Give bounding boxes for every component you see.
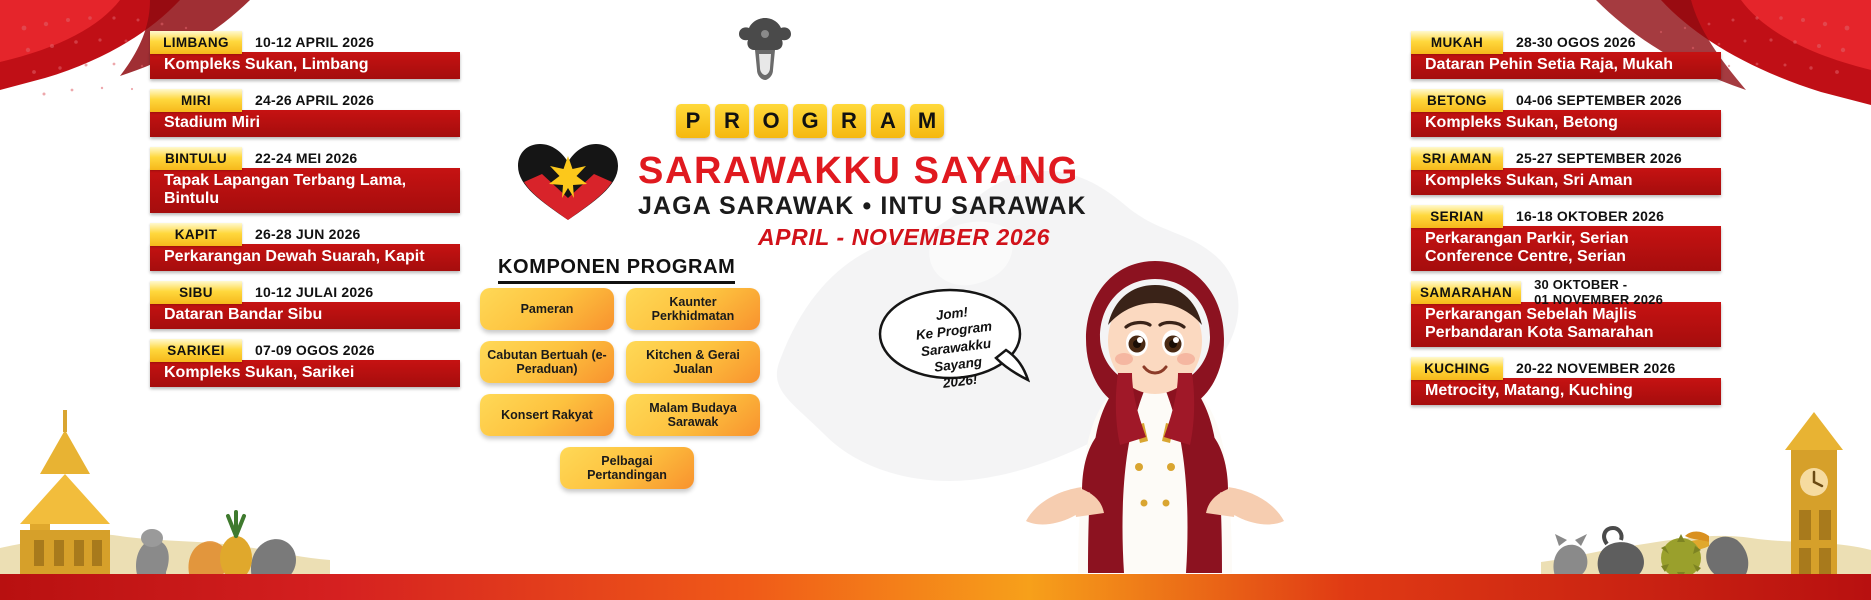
event-venue: Dataran Pehin Setia Raja, Mukah xyxy=(1411,52,1721,79)
event-card: KUCHING20-22 NOVEMBER 2026Metrocity, Mat… xyxy=(1411,356,1721,405)
komponen-pill-row: PameranKaunter Perkhidmatan xyxy=(480,288,780,330)
event-venue: Kompleks Sukan, Sarikei xyxy=(150,360,460,387)
page-title: SARAWAKKU SAYANG xyxy=(638,150,1079,193)
komponen-pill[interactable]: Kitchen & Gerai Jualan xyxy=(626,341,760,383)
event-card-header: SERIAN16-18 OKTOBER 2026 xyxy=(1411,204,1721,228)
event-date: 26-28 JUN 2026 xyxy=(242,227,361,242)
event-city-chip: SARIKEI xyxy=(150,339,242,362)
program-letter-tile: G xyxy=(793,104,827,138)
scenery-right-landmarks xyxy=(1541,390,1871,580)
event-card: MUKAH28-30 OGOS 2026Dataran Pehin Setia … xyxy=(1411,30,1721,79)
event-city-chip: SIBU xyxy=(150,281,242,304)
program-letter-tile: R xyxy=(715,104,749,138)
event-venue: Perkarangan Dewah Suarah, Kapit xyxy=(150,244,460,271)
event-card-header: KUCHING20-22 NOVEMBER 2026 xyxy=(1411,356,1721,380)
event-card: KAPIT26-28 JUN 2026Perkarangan Dewah Sua… xyxy=(150,222,460,271)
bottom-color-band xyxy=(0,574,1871,600)
event-card: SRI AMAN25-27 SEPTEMBER 2026Kompleks Suk… xyxy=(1411,146,1721,195)
event-city-chip: SAMARAHAN xyxy=(1411,281,1521,304)
komponen-pill[interactable]: Cabutan Bertuah (e-Peraduan) xyxy=(480,341,614,383)
event-card: LIMBANG10-12 APRIL 2026Kompleks Sukan, L… xyxy=(150,30,460,79)
program-letter-tile: P xyxy=(676,104,710,138)
event-city-chip: KAPIT xyxy=(150,223,242,246)
event-card-header: MIRI24-26 APRIL 2026 xyxy=(150,88,460,112)
event-date: 16-18 OKTOBER 2026 xyxy=(1503,209,1664,224)
sarawak-state-crest-icon xyxy=(735,14,795,82)
event-list-left: LIMBANG10-12 APRIL 2026Kompleks Sukan, L… xyxy=(150,30,460,396)
event-date: 25-27 SEPTEMBER 2026 xyxy=(1503,151,1682,166)
event-card: SIBU10-12 JULAI 2026Dataran Bandar Sibu xyxy=(150,280,460,329)
event-date: 30 OKTOBER -01 NOVEMBER 2026 xyxy=(1521,277,1663,307)
event-venue: Metrocity, Matang, Kuching xyxy=(1411,378,1721,405)
event-date: 10-12 JULAI 2026 xyxy=(242,285,373,300)
komponen-pill-grid: PameranKaunter PerkhidmatanCabutan Bertu… xyxy=(480,288,780,500)
event-date: 22-24 MEI 2026 xyxy=(242,151,357,166)
speech-bubble-text: Jom! Ke Program Sarawakku Sayang 2026! xyxy=(893,298,1018,397)
event-card-header: LIMBANG10-12 APRIL 2026 xyxy=(150,30,460,54)
event-city-chip: BETONG xyxy=(1411,89,1503,112)
komponen-pill[interactable]: Malam Budaya Sarawak xyxy=(626,394,760,436)
event-card-header: SARIKEI07-09 OGOS 2026 xyxy=(150,338,460,362)
komponen-pill-row: Konsert RakyatMalam Budaya Sarawak xyxy=(480,394,780,436)
program-word-tiles: PROGRAM xyxy=(676,104,944,138)
event-venue: Dataran Bandar Sibu xyxy=(150,302,460,329)
event-city-chip: MUKAH xyxy=(1411,31,1503,54)
komponen-pill[interactable]: Pameran xyxy=(480,288,614,330)
event-venue: Kompleks Sukan, Limbang xyxy=(150,52,460,79)
event-venue: Kompleks Sukan, Sri Aman xyxy=(1411,168,1721,195)
event-date: 24-26 APRIL 2026 xyxy=(242,93,374,108)
event-date: 07-09 OGOS 2026 xyxy=(242,343,375,358)
event-card: MIRI24-26 APRIL 2026Stadium Miri xyxy=(150,88,460,137)
event-card: SERIAN16-18 OKTOBER 2026Perkarangan Park… xyxy=(1411,204,1721,271)
komponen-pill-row: Pelbagai Pertandingan xyxy=(474,447,780,489)
event-venue: Stadium Miri xyxy=(150,110,460,137)
program-daterange: APRIL - NOVEMBER 2026 xyxy=(758,224,1050,251)
event-date: 10-12 APRIL 2026 xyxy=(242,35,374,50)
event-date: 04-06 SEPTEMBER 2026 xyxy=(1503,93,1682,108)
mascot-character xyxy=(1020,255,1290,575)
komponen-heading: KOMPONEN PROGRAM xyxy=(498,256,735,284)
event-card-header: MUKAH28-30 OGOS 2026 xyxy=(1411,30,1721,54)
event-venue: Kompleks Sukan, Betong xyxy=(1411,110,1721,137)
komponen-pill-row: Cabutan Bertuah (e-Peraduan)Kitchen & Ge… xyxy=(480,341,780,383)
program-letter-tile: R xyxy=(832,104,866,138)
event-city-chip: KUCHING xyxy=(1411,357,1503,380)
komponen-pill[interactable]: Pelbagai Pertandingan xyxy=(560,447,694,489)
event-city-chip: MIRI xyxy=(150,89,242,112)
event-card: BINTULU22-24 MEI 2026Tapak Lapangan Terb… xyxy=(150,146,460,213)
event-venue: Tapak Lapangan Terbang Lama, Bintulu xyxy=(150,168,460,213)
event-date: 28-30 OGOS 2026 xyxy=(1503,35,1636,50)
event-card-header: KAPIT26-28 JUN 2026 xyxy=(150,222,460,246)
scenery-left-landmarks xyxy=(0,390,330,580)
event-venue: Perkarangan Sebelah Majlis Perbandaran K… xyxy=(1411,302,1721,347)
event-card-header: SAMARAHAN30 OKTOBER -01 NOVEMBER 2026 xyxy=(1411,280,1721,304)
program-letter-tile: A xyxy=(871,104,905,138)
event-date: 20-22 NOVEMBER 2026 xyxy=(1503,361,1675,376)
komponen-pill[interactable]: Konsert Rakyat xyxy=(480,394,614,436)
event-card: SAMARAHAN30 OKTOBER -01 NOVEMBER 2026Per… xyxy=(1411,280,1721,347)
sarawak-heart-logo xyxy=(512,140,624,222)
event-card-header: SIBU10-12 JULAI 2026 xyxy=(150,280,460,304)
event-city-chip: LIMBANG xyxy=(150,31,242,54)
komponen-pill[interactable]: Kaunter Perkhidmatan xyxy=(626,288,760,330)
page-subtitle: JAGA SARAWAK • INTU SARAWAK xyxy=(638,192,1087,221)
event-card-header: BINTULU22-24 MEI 2026 xyxy=(150,146,460,170)
event-card: SARIKEI07-09 OGOS 2026Kompleks Sukan, Sa… xyxy=(150,338,460,387)
event-city-chip: SRI AMAN xyxy=(1411,147,1503,170)
program-letter-tile: O xyxy=(754,104,788,138)
event-city-chip: SERIAN xyxy=(1411,205,1503,228)
event-card-header: BETONG04-06 SEPTEMBER 2026 xyxy=(1411,88,1721,112)
event-card: BETONG04-06 SEPTEMBER 2026Kompleks Sukan… xyxy=(1411,88,1721,137)
program-letter-tile: M xyxy=(910,104,944,138)
event-venue: Perkarangan Parkir, Serian Conference Ce… xyxy=(1411,226,1721,271)
event-card-header: SRI AMAN25-27 SEPTEMBER 2026 xyxy=(1411,146,1721,170)
event-city-chip: BINTULU xyxy=(150,147,242,170)
event-list-right: MUKAH28-30 OGOS 2026Dataran Pehin Setia … xyxy=(1411,30,1721,414)
